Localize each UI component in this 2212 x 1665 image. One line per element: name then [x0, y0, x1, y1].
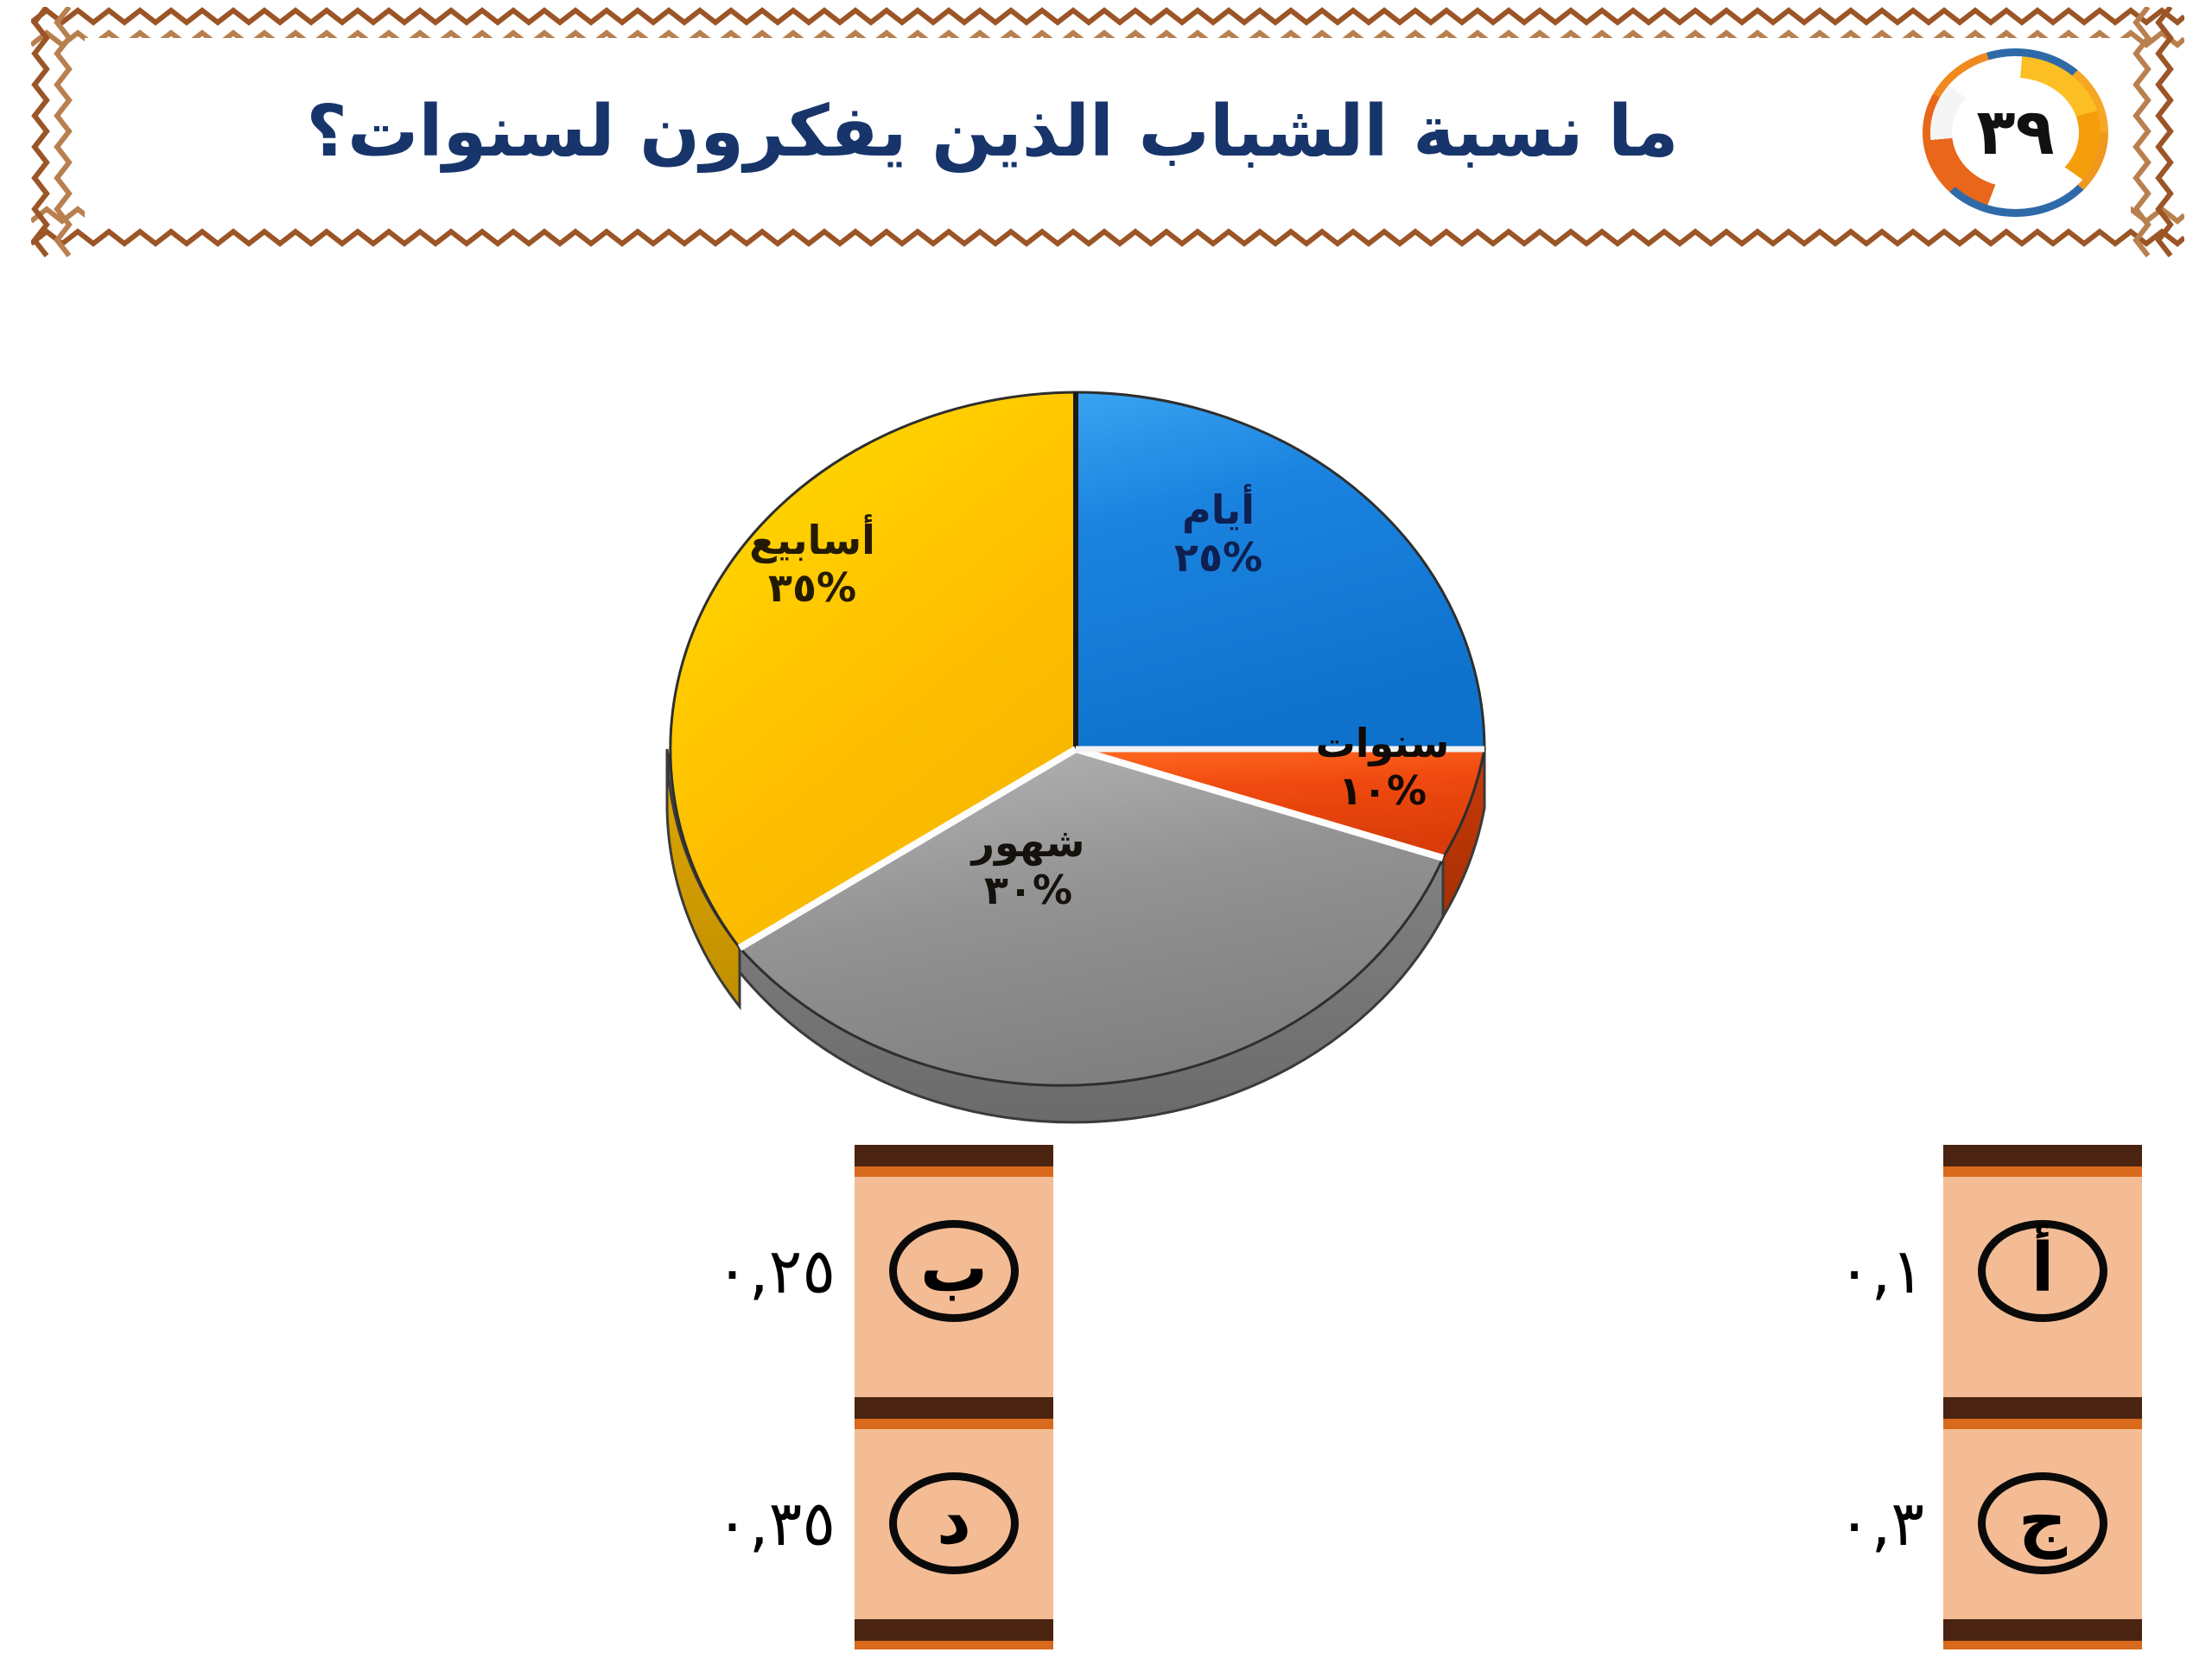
answer-option-b-box[interactable]: ب	[855, 1145, 1053, 1397]
option-cap-dark	[855, 1145, 1053, 1166]
option-value-d: ٠,٣٥	[715, 1487, 836, 1560]
answer-option-a[interactable]: أ ٠,١	[1943, 1145, 2142, 1397]
option-cap-dark	[1943, 1397, 2142, 1419]
option-cap-dark	[855, 1397, 1053, 1419]
option-letter-a: أ	[2031, 1235, 2055, 1302]
option-cap-accent	[855, 1166, 1053, 1177]
option-letter-circle-c: ج	[1978, 1472, 2107, 1574]
option-letter-circle-b: ب	[889, 1220, 1019, 1322]
option-value-a: ٠,١	[1838, 1235, 1924, 1307]
answer-option-d[interactable]: د ٠,٣٥	[855, 1397, 1053, 1649]
answer-option-a-box[interactable]: أ	[1943, 1145, 2142, 1397]
option-foot-dark	[1943, 1619, 2142, 1641]
option-foot-dark	[855, 1619, 1053, 1641]
answer-option-c-box[interactable]: ج	[1943, 1397, 2142, 1649]
answer-option-d-box[interactable]: د	[855, 1397, 1053, 1649]
answer-column-left: ب ٠,٢٥ د ٠,٣٥	[855, 1145, 1053, 1649]
option-cap-accent	[855, 1419, 1053, 1429]
option-letter-circle-a: أ	[1978, 1220, 2107, 1322]
option-value-b: ٠,٢٥	[715, 1235, 836, 1307]
option-cap-dark	[1943, 1145, 2142, 1166]
pie-chart-area: أيام %٢٥ سنوات %١٠ شهور %٣٠ أسابيع %٣٥	[0, 0, 2212, 864]
answer-column-right: أ ٠,١ ج ٠,٣	[1943, 1145, 2142, 1649]
option-letter-b: ب	[920, 1235, 988, 1302]
option-cap-accent	[1943, 1419, 2142, 1429]
answer-option-b[interactable]: ب ٠,٢٥	[855, 1145, 1053, 1397]
option-letter-c: ج	[2018, 1487, 2067, 1554]
answer-options: أ ٠,١ ج ٠,٣ ب	[0, 1145, 2212, 1663]
option-foot-accent	[1943, 1641, 2142, 1649]
option-letter-circle-d: د	[889, 1472, 1019, 1574]
option-value-c: ٠,٣	[1838, 1487, 1924, 1560]
option-letter-d: د	[937, 1487, 971, 1554]
slice-days	[1076, 392, 1484, 749]
pie-chart: أيام %٢٥ سنوات %١٠ شهور %٣٠ أسابيع %٣٥	[570, 307, 1581, 1153]
pie-chart-svg	[570, 307, 1581, 1153]
option-foot-accent	[855, 1641, 1053, 1649]
answer-option-c[interactable]: ج ٠,٣	[1943, 1397, 2142, 1649]
option-cap-accent	[1943, 1166, 2142, 1177]
